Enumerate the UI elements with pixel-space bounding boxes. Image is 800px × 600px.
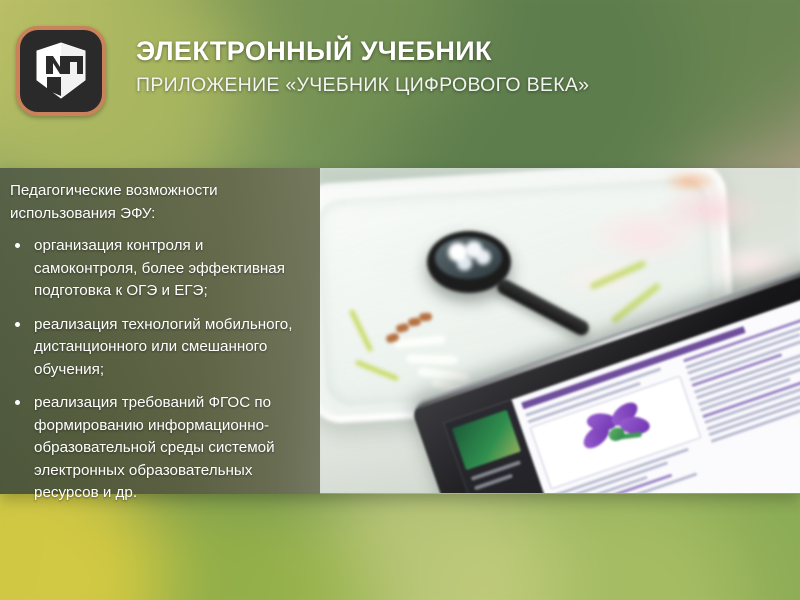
list-item: реализация технологий мобильного, дистан… [6,314,308,382]
slide-canvas: ЭЛЕКТРОННЫЙ УЧЕБНИК ПРИЛОЖЕНИЕ «УЧЕБНИК … [0,0,800,600]
lead-text: Педагогические возможности использования… [10,180,308,225]
list-item: реализация требований ФГОС по формирован… [6,392,308,505]
page-subtitle: ПРИЛОЖЕНИЕ «УЧЕБНИК ЦИФРОВОГО ВЕКА» [136,71,589,99]
header-titles: ЭЛЕКТРОННЫЙ УЧЕБНИК ПРИЛОЖЕНИЕ «УЧЕБНИК … [136,34,589,99]
flower-diagram [572,396,658,467]
bullet-dot-icon [15,400,20,405]
illustration-photo [320,168,800,493]
lead-line-1: Педагогические возможности [10,180,308,203]
text-panel: Педагогические возможности использования… [0,168,320,494]
bullet-dot-icon [15,243,20,248]
list-item-text: реализация технологий мобильного, дистан… [34,316,292,378]
bullet-dot-icon [15,322,20,327]
lead-line-2: использования ЭФУ: [10,203,308,226]
bullet-list: организация контроля и самоконтроля, бол… [6,235,308,505]
content-band: Педагогические возможности использования… [0,168,800,494]
sprout [406,354,458,365]
magnifier-lens-ring [427,231,511,293]
seed [419,313,433,322]
app-logo [16,26,106,116]
list-item: организация контроля и самоконтроля, бол… [6,235,308,303]
list-item-text: организация контроля и самоконтроля, бол… [34,237,285,299]
magnifier-glass [435,237,502,279]
page-title: ЭЛЕКТРОННЫЙ УЧЕБНИК [136,34,589,68]
slide-header: ЭЛЕКТРОННЫЙ УЧЕБНИК ПРИЛОЖЕНИЕ «УЧЕБНИК … [0,0,800,168]
list-item-text: реализация требований ФГОС по формирован… [34,394,275,501]
sidebar-thumbnail [452,410,521,470]
